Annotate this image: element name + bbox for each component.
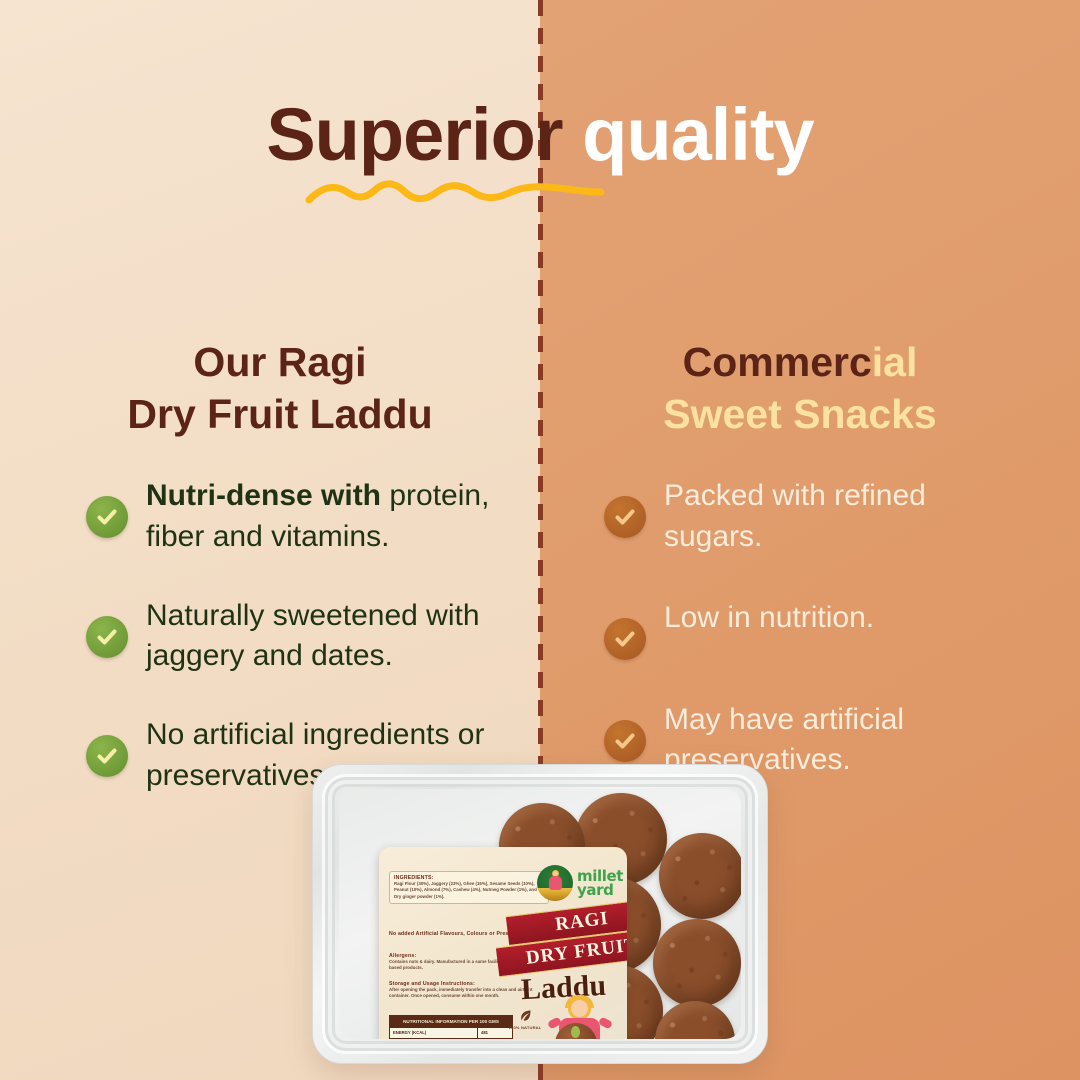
title-part-quality: quality — [582, 93, 813, 176]
left-heading-line2: Dry Fruit Laddu — [40, 388, 520, 440]
page-title: Superior quality — [0, 96, 1080, 174]
title-part-superior: Superior — [266, 93, 562, 176]
left-heading-line1: Our Ragi — [40, 336, 520, 388]
check-circle-icon — [86, 616, 128, 658]
ingredients-text: Ragi Flour (30%), Jaggery (23%), Ghee (1… — [394, 881, 544, 900]
brand-line-2: yard — [577, 883, 623, 897]
table-row: CARBOHYDRATE (G)65.17 — [390, 1038, 512, 1039]
ribbon-ragi-text: RAGI — [554, 908, 610, 936]
right-column-heading: Commercial Sweet Snacks — [560, 336, 1040, 440]
badge-natural: 100% NATURAL — [503, 1007, 547, 1030]
woman-right-arm — [598, 1016, 613, 1029]
list-item: Packed with refined sugars. — [604, 476, 1024, 558]
farmer-woman-logo-icon — [537, 865, 573, 901]
check-circle-icon — [86, 735, 128, 777]
list-item: Nutri-dense with protein, fiber and vita… — [86, 476, 536, 558]
nutrition-table: NUTRITIONAL INFORMATION PER 100 GMS ENER… — [389, 1015, 513, 1039]
laddu-ball — [653, 919, 741, 1007]
right-heading-line1-light: ial — [872, 339, 918, 385]
brand-logo: millet yard — [537, 865, 623, 901]
certification-badges: 100% NATURAL NO REFINED SUGAR — [503, 1007, 547, 1039]
woman-head — [568, 997, 591, 1020]
heart-icon — [517, 1036, 534, 1039]
nutrition-label: ENERGY (KCAL) — [390, 1028, 478, 1038]
check-circle-icon — [604, 618, 646, 660]
right-heading-line1-dark: Commerc — [683, 339, 872, 385]
list-item: Low in nutrition. — [604, 598, 1024, 660]
logo-woman-body — [549, 876, 562, 890]
list-item-text: Nutri-dense with protein, fiber and vita… — [146, 476, 536, 558]
laddu-ball — [659, 833, 741, 919]
laddu-ball — [655, 1001, 735, 1039]
list-item-text: Low in nutrition. — [664, 598, 874, 639]
wavy-underline-icon — [305, 172, 605, 206]
leaf-icon — [517, 1007, 534, 1024]
pistachio-garnish — [571, 1026, 580, 1038]
comparison-infographic: Superior quality Our Ragi Dry Fruit Ladd… — [0, 0, 1080, 1080]
list-item-text: Packed with refined sugars. — [664, 476, 1024, 558]
product-package-photo: INGREDIENTS: Ragi Flour (30%), Jaggery (… — [296, 748, 784, 1080]
brand-wordmark: millet yard — [577, 869, 623, 898]
right-heading-line1: Commercial — [560, 336, 1040, 388]
badge-natural-text: 100% NATURAL — [503, 1025, 547, 1030]
list-item-text: Naturally sweetened with jaggery and dat… — [146, 596, 536, 678]
tray-well: INGREDIENTS: Ragi Flour (30%), Jaggery (… — [339, 789, 741, 1039]
product-label: INGREDIENTS: Ragi Flour (30%), Jaggery (… — [379, 847, 627, 1039]
table-row: ENERGY (KCAL)481 — [390, 1027, 512, 1038]
plastic-tray: INGREDIENTS: Ragi Flour (30%), Jaggery (… — [312, 764, 768, 1064]
right-heading-line2: Sweet Snacks — [560, 388, 1040, 440]
ingredients-box: INGREDIENTS: Ragi Flour (30%), Jaggery (… — [389, 871, 549, 904]
list-item-lead: Nutri-dense with — [146, 479, 381, 512]
logo-woman-figure — [548, 870, 562, 892]
check-circle-icon — [86, 496, 128, 538]
nutrition-title: NUTRITIONAL INFORMATION PER 100 GMS — [390, 1016, 512, 1027]
left-column-heading: Our Ragi Dry Fruit Laddu — [40, 336, 520, 440]
check-circle-icon — [604, 496, 646, 538]
badge-no-refined-sugar: NO REFINED SUGAR — [503, 1036, 547, 1039]
list-item: Naturally sweetened with jaggery and dat… — [86, 596, 536, 678]
